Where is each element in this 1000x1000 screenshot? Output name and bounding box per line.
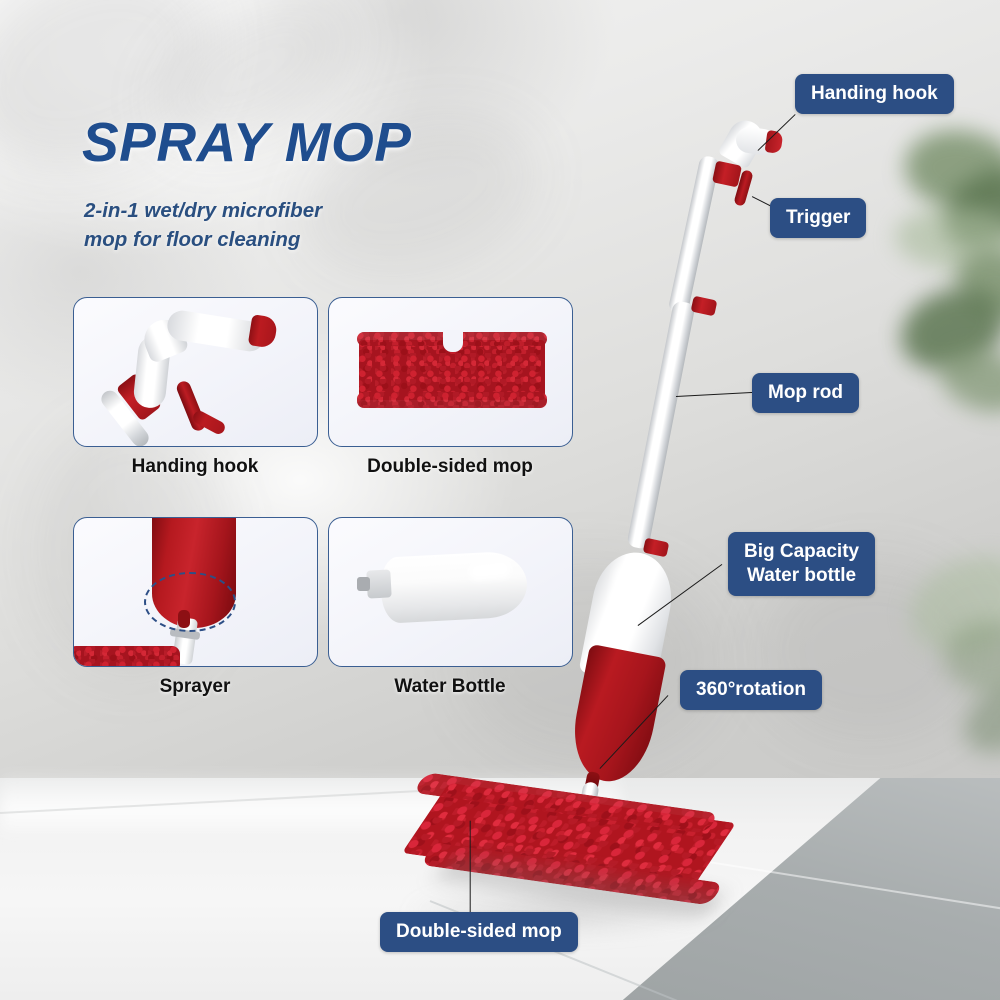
feature-card-label-double-sided-mop: Double-sided mop [328,456,572,478]
callout-badge-mop-head[interactable]: Double-sided mop [380,912,578,952]
feature-card-double-sided-mop[interactable] [328,297,573,447]
feature-card-label-sprayer: Sprayer [73,676,317,698]
page-title: SPRAY MOP [82,110,411,174]
feature-card-label-handing-hook: Handing hook [73,456,317,478]
callout-badge-rotation[interactable]: 360°rotation [680,670,822,710]
page-subtitle: 2-in-1 wet/dry microfiber mop for floor … [84,196,322,254]
callout-badge-trigger[interactable]: Trigger [770,198,866,238]
feature-card-handing-hook[interactable] [73,297,318,447]
subtitle-line-1: 2-in-1 wet/dry microfiber [84,196,322,225]
sprayer-highlight-ellipse [144,572,236,632]
callout-badge-water-bottle[interactable]: Big Capacity Water bottle [728,532,875,596]
subtitle-line-2: mop for floor cleaning [84,225,322,254]
callout-badge-mop-rod[interactable]: Mop rod [752,373,859,413]
infographic-canvas: SPRAY MOP 2-in-1 wet/dry microfiber mop … [0,0,1000,1000]
feature-card-sprayer[interactable] [73,517,318,667]
callout-badge-handing-hook[interactable]: Handing hook [795,74,954,114]
feature-card-water-bottle[interactable] [328,517,573,667]
feature-card-label-water-bottle: Water Bottle [328,676,572,698]
